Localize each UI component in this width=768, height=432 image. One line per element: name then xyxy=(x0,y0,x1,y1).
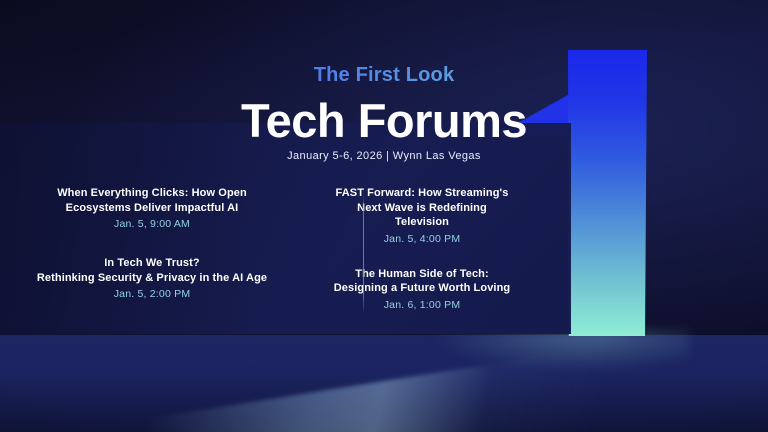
column-divider xyxy=(363,193,364,314)
session-column-left: When Everything Clicks: How Open Ecosyst… xyxy=(22,186,282,300)
session-column-right: FAST Forward: How Streaming's Next Wave … xyxy=(292,186,552,311)
session-item[interactable]: FAST Forward: How Streaming's Next Wave … xyxy=(292,186,552,245)
session-item[interactable]: When Everything Clicks: How Open Ecosyst… xyxy=(22,186,282,230)
event-date-venue: January 5-6, 2026 | Wynn Las Vegas xyxy=(0,150,768,162)
page-title: Tech Forums xyxy=(0,96,768,145)
session-time: Jan. 5, 4:00 PM xyxy=(292,233,552,245)
session-list: When Everything Clicks: How Open Ecosyst… xyxy=(0,186,571,326)
session-title: FAST Forward: How Streaming's Next Wave … xyxy=(292,186,552,230)
session-title: In Tech We Trust? Rethinking Security & … xyxy=(22,256,282,285)
session-time: Jan. 5, 2:00 PM xyxy=(22,288,282,300)
session-title: The Human Side of Tech: Designing a Futu… xyxy=(292,267,552,296)
session-time: Jan. 6, 1:00 PM xyxy=(292,299,552,311)
session-item[interactable]: In Tech We Trust? Rethinking Security & … xyxy=(22,256,282,300)
session-item[interactable]: The Human Side of Tech: Designing a Futu… xyxy=(292,267,552,311)
eyebrow-text: The First Look xyxy=(0,64,768,87)
session-time: Jan. 5, 9:00 AM xyxy=(22,218,282,230)
session-title: When Everything Clicks: How Open Ecosyst… xyxy=(22,186,282,215)
header: The First Look Tech Forums January 5-6, … xyxy=(0,0,768,175)
presentation-slide: The First Look Tech Forums January 5-6, … xyxy=(0,0,768,432)
